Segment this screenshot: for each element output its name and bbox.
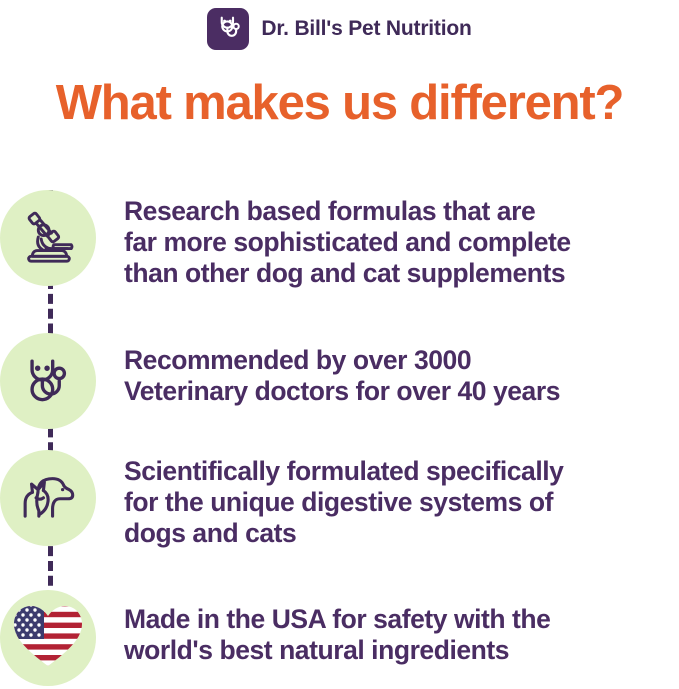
list-item-label: Research based formulas that are far mor…: [124, 196, 571, 289]
list-item-label: Recommended by over 3000 Veterinary doct…: [124, 345, 560, 407]
feature-list: Research based formulas that are far mor…: [0, 178, 679, 689]
dog-and-cat-icon: [16, 464, 80, 533]
list-item-label: Scientifically formulated specifically f…: [124, 456, 563, 549]
stethoscope-face-icon: [18, 349, 78, 414]
brand-logo: [207, 8, 249, 50]
stethoscope-face-icon: [213, 12, 243, 47]
brand-header: Dr. Bill's Pet Nutrition: [0, 4, 679, 54]
usa-flag-heart-icon: [11, 601, 85, 676]
microscope-icon: [17, 205, 79, 272]
page-title: What makes us different?: [0, 78, 679, 129]
usa-flag-icon-badge: [0, 590, 96, 686]
list-item: Made in the USA for safety with the worl…: [0, 590, 679, 686]
list-item: Recommended by over 3000 Veterinary doct…: [0, 333, 679, 429]
list-item: Research based formulas that are far mor…: [0, 190, 679, 289]
brand-name: Dr. Bill's Pet Nutrition: [261, 17, 471, 41]
stethoscope-icon-badge: [0, 333, 96, 429]
dog-cat-icon-badge: [0, 450, 96, 546]
list-item-label: Made in the USA for safety with the worl…: [124, 604, 550, 666]
list-item: Scientifically formulated specifically f…: [0, 450, 679, 549]
microscope-icon-badge: [0, 190, 96, 286]
